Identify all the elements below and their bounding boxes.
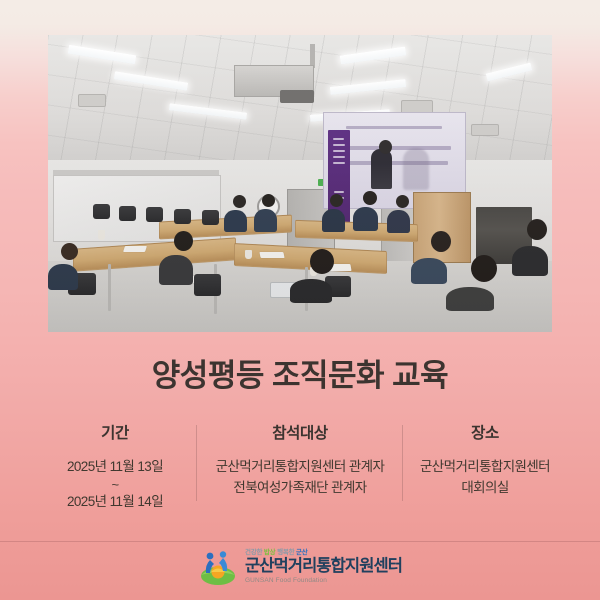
attendee-body xyxy=(322,209,345,232)
period-start: 2025년 11월 13일 xyxy=(30,457,200,478)
attendee-body xyxy=(159,255,193,285)
period-end: 2025년 11월 14일 xyxy=(30,492,200,513)
attendee-head xyxy=(431,231,451,252)
target-line-2: 전북여성가족재단 관계자 xyxy=(208,478,392,499)
info-column-target: 참석대상 군산먹거리통합지원센터 관계자 전북여성가족재단 관계자 xyxy=(204,421,396,499)
chair xyxy=(146,207,163,222)
attendee-head xyxy=(363,191,377,205)
chair xyxy=(174,209,191,224)
attendee-body xyxy=(512,246,548,276)
ceiling-vent xyxy=(471,124,499,136)
attendee-body xyxy=(446,287,494,311)
handout-paper xyxy=(123,246,147,252)
chair xyxy=(119,206,136,221)
attendee-body xyxy=(353,207,378,231)
chair xyxy=(202,210,219,225)
logo-organization-name: 군산먹거리통합지원센터 xyxy=(245,558,402,575)
presenter-shadow xyxy=(403,148,429,190)
target-line-1: 군산먹거리통합지원센터 관계자 xyxy=(208,457,392,478)
projector-lens xyxy=(280,90,314,103)
photo-scene xyxy=(48,35,552,332)
info-column-place: 장소 군산먹거리통합지원센터 대회의실 xyxy=(396,421,574,499)
place-line-2: 대회의실 xyxy=(400,478,570,499)
attendee-body xyxy=(290,279,332,303)
presenter-head xyxy=(379,140,392,154)
info-heading-period: 기간 xyxy=(30,421,200,443)
presenter-body xyxy=(371,149,392,189)
logo-text-block: 건강한 밥상 행복한 군산 군산먹거리통합지원센터 GUNSAN Food Fo… xyxy=(245,550,402,584)
attendee-head xyxy=(174,231,193,251)
promo-card: 양성평등 조직문화 교육 기간 2025년 11월 13일 ~ 2025년 11… xyxy=(0,0,600,600)
logo-emblem-icon xyxy=(198,548,238,586)
attendee-head xyxy=(61,243,78,260)
ceiling-vent xyxy=(78,94,106,107)
attendee-head xyxy=(262,194,275,207)
handout-paper xyxy=(259,252,284,258)
logo-english-name: GUNSAN Food Foundation xyxy=(245,578,402,585)
organization-logo: 건강한 밥상 행복한 군산 군산먹거리통합지원센터 GUNSAN Food Fo… xyxy=(0,548,600,586)
logo-tagline-a: 건강한 xyxy=(245,549,262,556)
chair xyxy=(93,204,110,219)
period-separator: ~ xyxy=(30,478,200,492)
logo-tagline-c: 행복한 xyxy=(277,549,294,556)
attendee-body xyxy=(411,258,447,284)
chair xyxy=(194,274,221,296)
paper-cup xyxy=(245,250,252,259)
info-section: 기간 2025년 11월 13일 ~ 2025년 11월 14일 참석대상 군산… xyxy=(26,421,574,513)
attendee-body xyxy=(224,210,247,232)
wooden-cabinet xyxy=(413,192,470,262)
paper-cup xyxy=(98,230,105,240)
info-heading-place: 장소 xyxy=(400,421,570,443)
logo-tagline-b: 밥상 xyxy=(264,549,276,556)
attendee-head xyxy=(471,255,497,282)
attendee-body xyxy=(48,264,78,290)
page-title: 양성평등 조직문화 교육 xyxy=(0,350,600,395)
logo-tagline-d: 군산 xyxy=(296,549,308,556)
attendee-body xyxy=(387,210,410,233)
event-photo xyxy=(48,35,552,332)
logo-tagline: 건강한 밥상 행복한 군산 xyxy=(245,550,402,557)
attendee-body xyxy=(254,209,277,232)
place-line-1: 군산먹거리통합지원센터 xyxy=(400,457,570,478)
info-column-period: 기간 2025년 11월 13일 ~ 2025년 11월 14일 xyxy=(26,421,204,513)
info-heading-target: 참석대상 xyxy=(208,421,392,443)
attendee-head xyxy=(527,219,547,240)
attendee-head xyxy=(310,249,334,274)
footer-divider xyxy=(0,541,600,542)
